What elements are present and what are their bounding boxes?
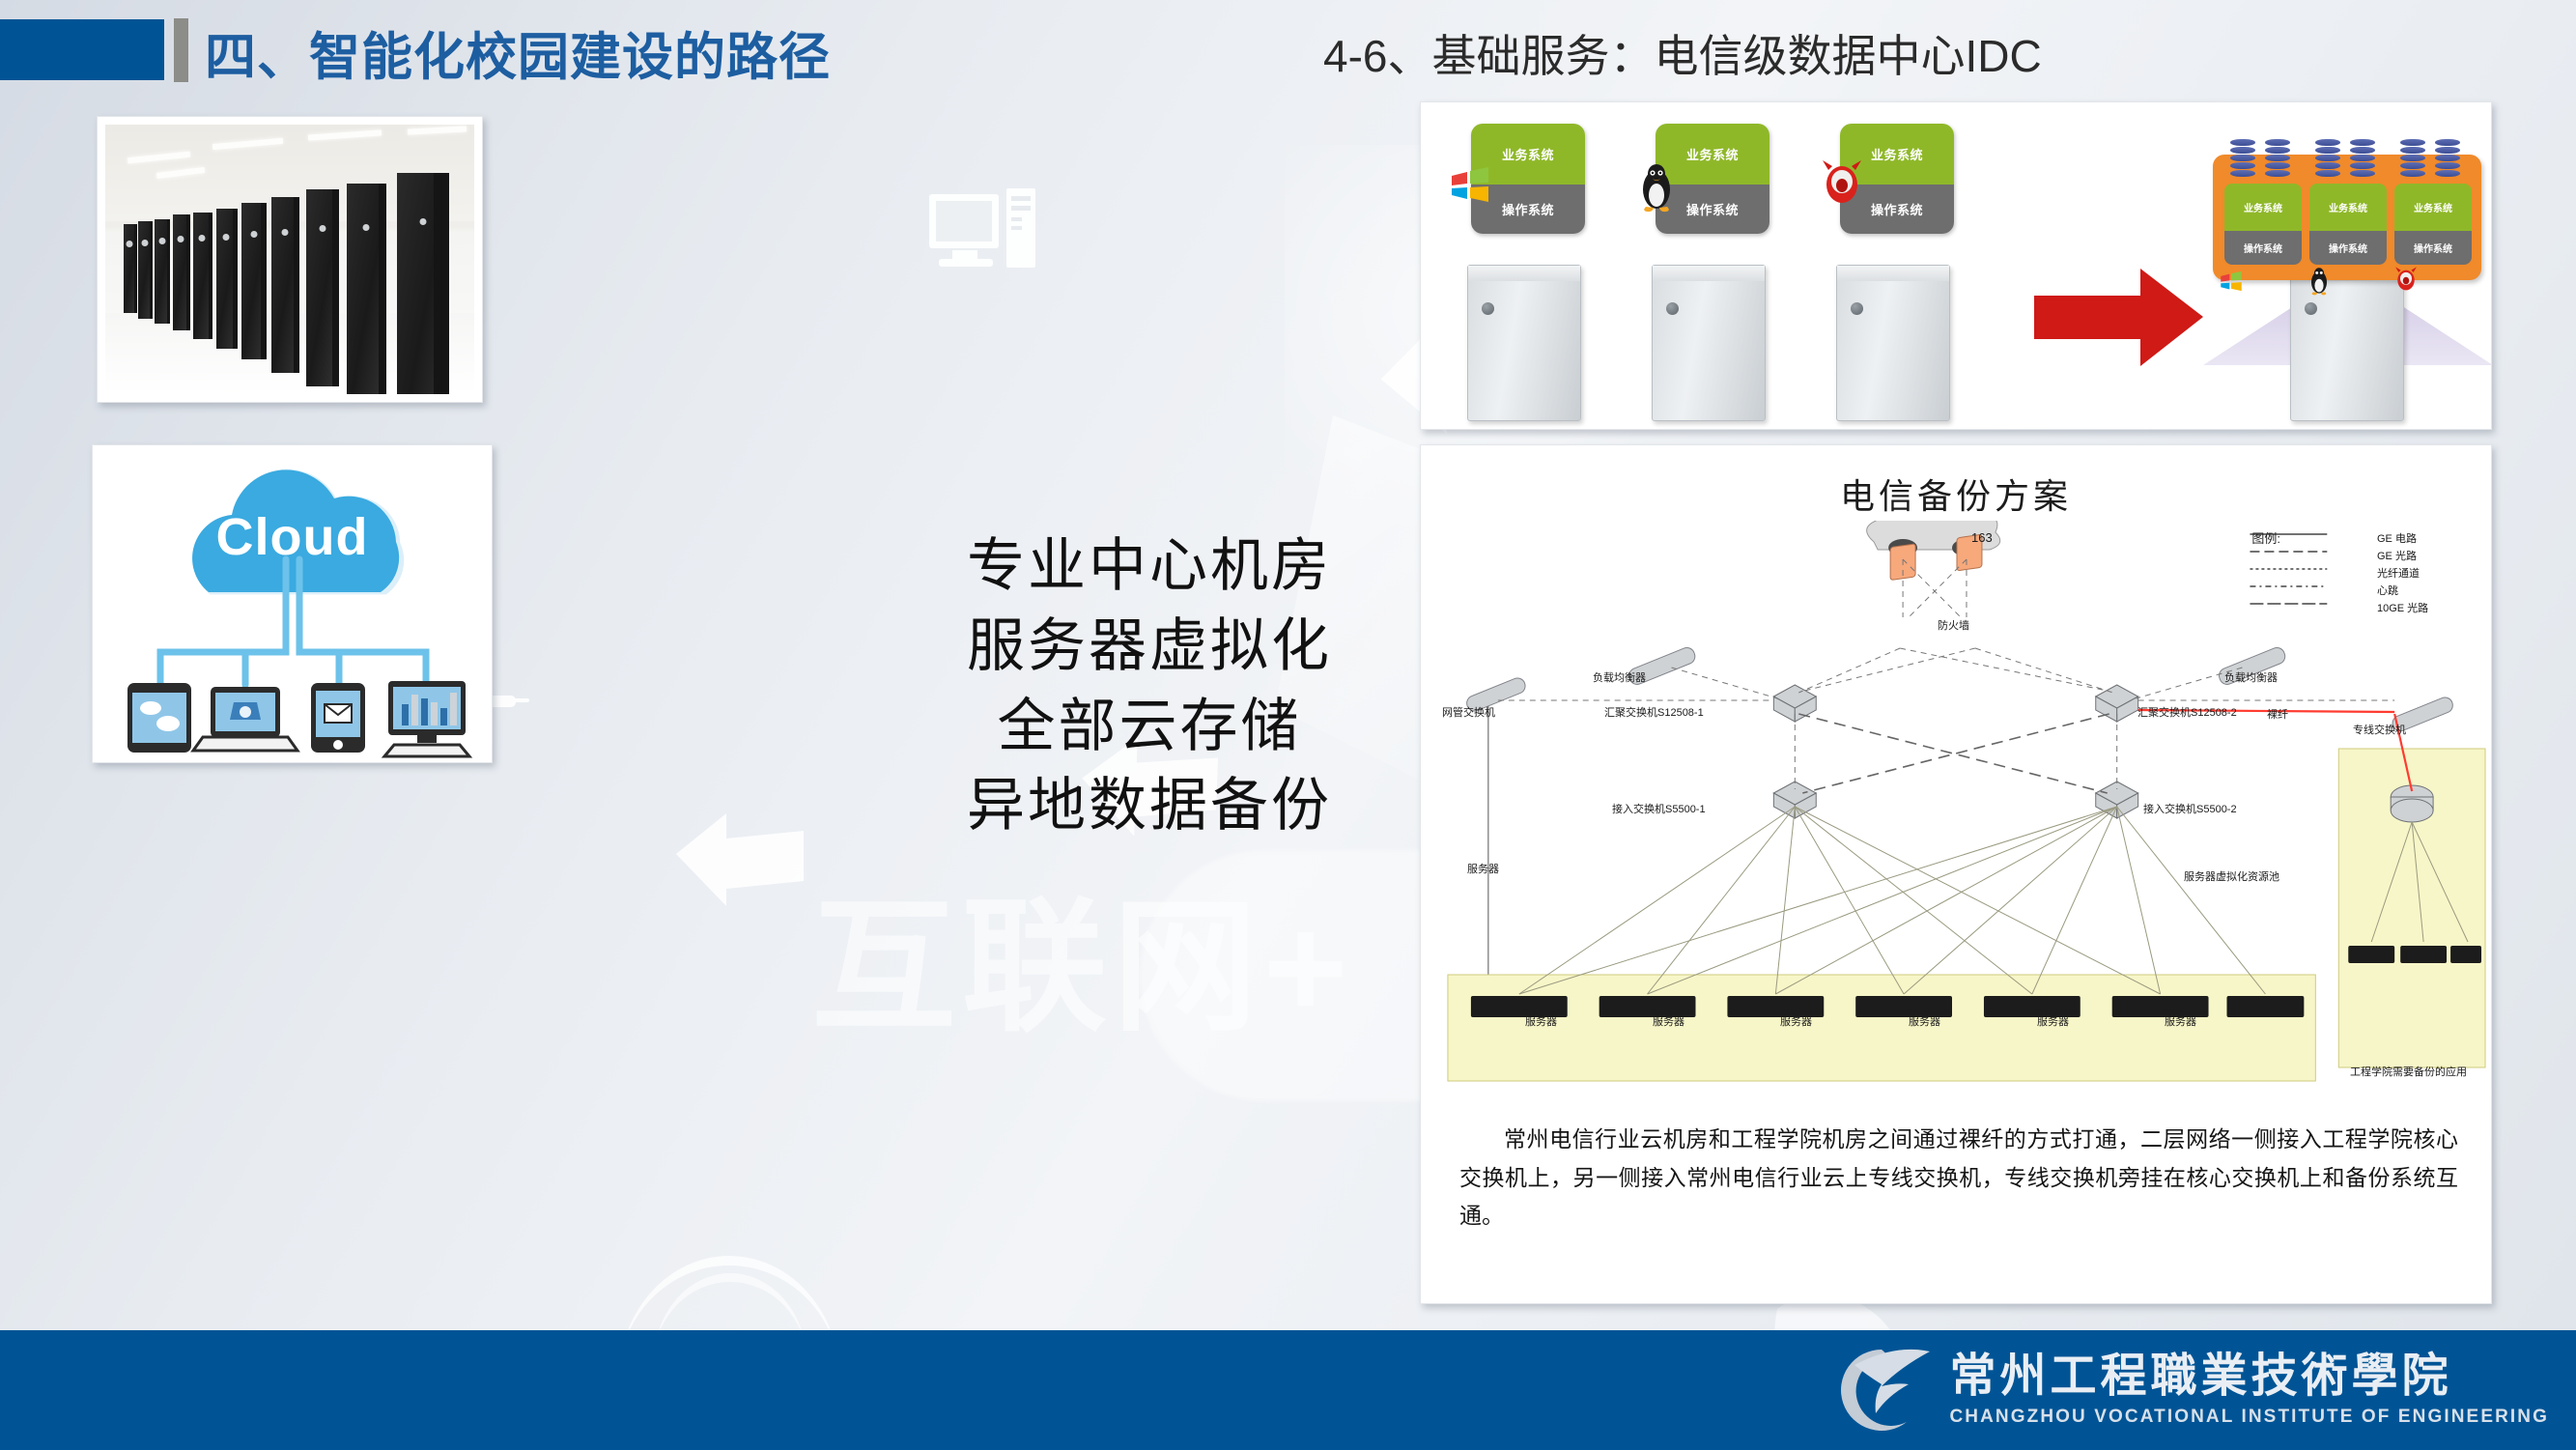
topology-label-access-switch-1: 接入交换机S5500-1 [1612,801,1706,816]
right-arrow-icon [2034,267,2203,368]
topology-label-servers-row: 服务器 [1780,1013,1812,1029]
freebsd-daemon-icon [2394,267,2418,293]
backup-plan-title: 电信备份方案 [1421,469,2491,519]
legend-item: 心跳 [2377,583,2398,598]
server-room-photo [97,116,483,403]
desktop-device-icon [384,681,469,756]
vm-app-label: 业务系统 [2309,184,2387,231]
topology-label-servers-row: 服务器 [1909,1013,1940,1029]
backup-plan-caption: 常州电信行业云机房和工程学院机房之间通过裸纤的方式打通，二层网络一侧接入工程学院… [1459,1122,2458,1237]
disk-stack-icon [2230,139,2255,180]
network-topology-diagram [1421,521,2491,1110]
vm-os-label: 操作系统 [2309,231,2387,265]
physical-server [1836,265,1950,421]
page-title: 四、智能化校园建设的路径 [205,16,831,90]
legend-item: GE 光路 [2377,548,2417,563]
virtualization-diagram-panel: 业务系统 操作系统 业务系统 操作系统 业务系统 操作系统 [1420,101,2492,430]
legend-item: 光纤通道 [2377,565,2420,581]
topology-label-agg-switch-2: 汇聚交换机S12508-2 [2137,704,2237,720]
topology-label-server: 服务器 [1467,861,1499,876]
linux-penguin-icon [2307,267,2331,296]
consolidated-vm: 业务系统 操作系统 [2309,184,2387,265]
backup-plan-panel: 电信备份方案 [1420,444,2492,1304]
cloud-diagram-panel: Cloud [92,444,493,763]
institute-name-en: CHANGZHOU VOCATIONAL INSTITUTE OF ENGINE… [1949,1407,2549,1428]
legend-title: 图例: [2251,528,2280,547]
key-point-4: 异地数据备份 [922,766,1376,846]
disk-stack-icon [2435,139,2460,180]
topology-label-mgmt-switch: 网管交换机 [1442,704,1495,720]
topology-label-access-switch-2: 接入交换机S5500-2 [2143,801,2237,816]
disk-stack-icon [2265,139,2290,180]
legend-item: GE 电路 [2377,530,2417,546]
slide-root: 互联网+ 四、智能化校园建设的路径 4-6、基础服务：电信级数据中心IDC [0,0,2576,1450]
topology-label-dedicated-switch: 专线交换机 [2353,722,2406,737]
topology-label-loadbalancer: 负载均衡器 [2224,669,2278,685]
topology-label-servers-row: 服务器 [2037,1013,2069,1029]
topology-label-agg-switch-1: 汇聚交换机S12508-1 [1604,704,1704,720]
header-accent-block [0,19,164,80]
vm-app-label: 业务系统 [2224,184,2302,231]
legend-item: 10GE 光路 [2377,600,2428,615]
freebsd-daemon-icon [1821,160,1863,207]
arrow-icon [676,811,804,908]
page-subtitle: 4-6、基础服务：电信级数据中心IDC [1323,21,2042,85]
laptop-device-icon [193,687,297,751]
windows-logo-icon [2219,269,2244,294]
background-watermark-text: 互联网+ [811,850,1354,1060]
vm-os-label: 操作系统 [2224,231,2302,265]
key-point-2: 服务器虚拟化 [922,607,1376,687]
key-points-list: 专业中心机房 服务器虚拟化 全部云存储 异地数据备份 [922,526,1376,846]
linux-penguin-icon [1636,162,1677,213]
windows-logo-icon [1448,162,1492,207]
vm-os-label: 操作系统 [2394,231,2472,265]
tablet-device-icon [127,683,191,753]
cloud-diagram-svg [93,445,493,763]
desktop-computer-icon [927,188,1041,277]
disk-stack-icon [2315,139,2340,180]
topology-label-bare-fiber: 裸纤 [2267,706,2288,722]
consolidated-vm: 业务系统 操作系统 [2224,184,2302,265]
physical-server [1652,265,1766,421]
header-divider-bar [174,18,188,82]
topology-label-firewall: 防火墙 [1938,617,1969,633]
smartphone-device-icon [311,683,365,753]
institute-name-cn: 常州工程職業技術學院 [1949,1352,2451,1399]
disk-stack-icon [2350,139,2375,180]
topology-label-loadbalancer: 负载均衡器 [1593,669,1646,685]
topology-label-internet: 163 [1971,530,1993,545]
topology-label-server-pool: 服务器虚拟化资源池 [2184,868,2279,884]
vm-app-label: 业务系统 [2394,184,2472,231]
physical-server [1467,265,1581,421]
swoosh-logo-icon [1831,1344,1932,1436]
topology-label-servers-row: 服务器 [1525,1013,1557,1029]
topology-label-servers-row: 服务器 [2165,1013,2196,1029]
topology-label-remote-pool: 工程学院需要备份的应用 [2350,1064,2467,1079]
topology-label-servers-row: 服务器 [1653,1013,1684,1029]
cloud-label: Cloud [93,507,492,567]
consolidated-vm: 业务系统 操作系统 [2394,184,2472,265]
key-point-3: 全部云存储 [922,687,1376,767]
key-point-1: 专业中心机房 [922,526,1376,607]
footer-bar: 常州工程職業技術學院 CHANGZHOU VOCATIONAL INSTITUT… [0,1330,2576,1450]
disk-stack-icon [2400,139,2425,180]
institute-logo: 常州工程職業技術學院 CHANGZHOU VOCATIONAL INSTITUT… [1831,1344,2549,1436]
